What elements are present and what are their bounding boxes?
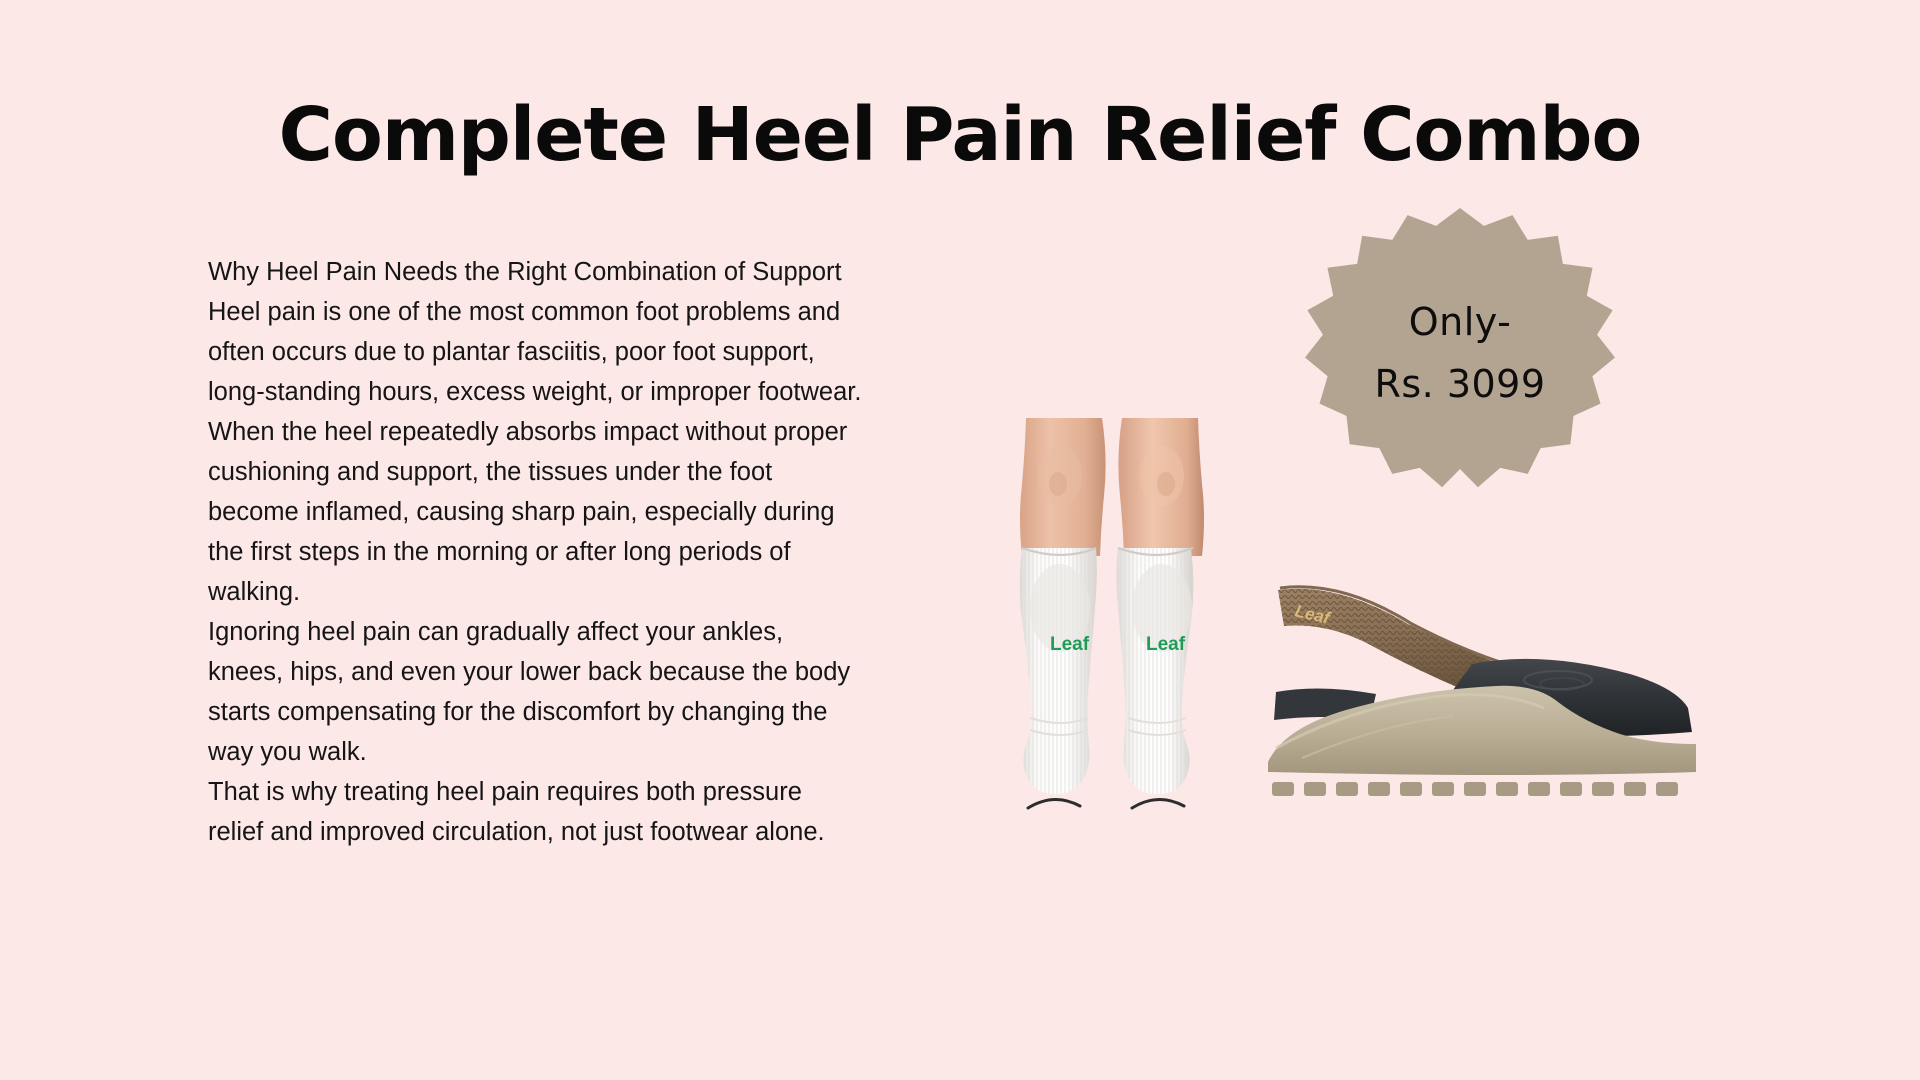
sock-brand-text: Leaf bbox=[1050, 634, 1090, 655]
slide-sandal-image: Leaf bbox=[1262, 576, 1702, 800]
price-badge-amount: Rs. 3099 bbox=[1374, 353, 1545, 415]
copy-paragraph-3: That is why treating heel pain requires … bbox=[208, 772, 863, 852]
sock-left: Leaf bbox=[1018, 546, 1102, 808]
page-title: Complete Heel Pain Relief Combo bbox=[0, 98, 1920, 172]
sandal-tread bbox=[1272, 782, 1678, 796]
compression-socks-image: Leaf Leaf bbox=[1000, 418, 1226, 862]
copy-heading: Why Heel Pain Needs the Right Combinatio… bbox=[208, 252, 863, 292]
price-badge: Only- Rs. 3099 bbox=[1305, 208, 1615, 498]
copy-paragraph-2: Ignoring heel pain can gradually affect … bbox=[208, 612, 863, 772]
sock-brand-text: Leaf bbox=[1146, 634, 1186, 655]
sock-right: Leaf bbox=[1114, 546, 1200, 808]
copy-paragraph-1: Heel pain is one of the most common foot… bbox=[208, 292, 863, 612]
price-badge-label: Only- bbox=[1409, 291, 1512, 353]
article-copy: Why Heel Pain Needs the Right Combinatio… bbox=[208, 252, 863, 852]
